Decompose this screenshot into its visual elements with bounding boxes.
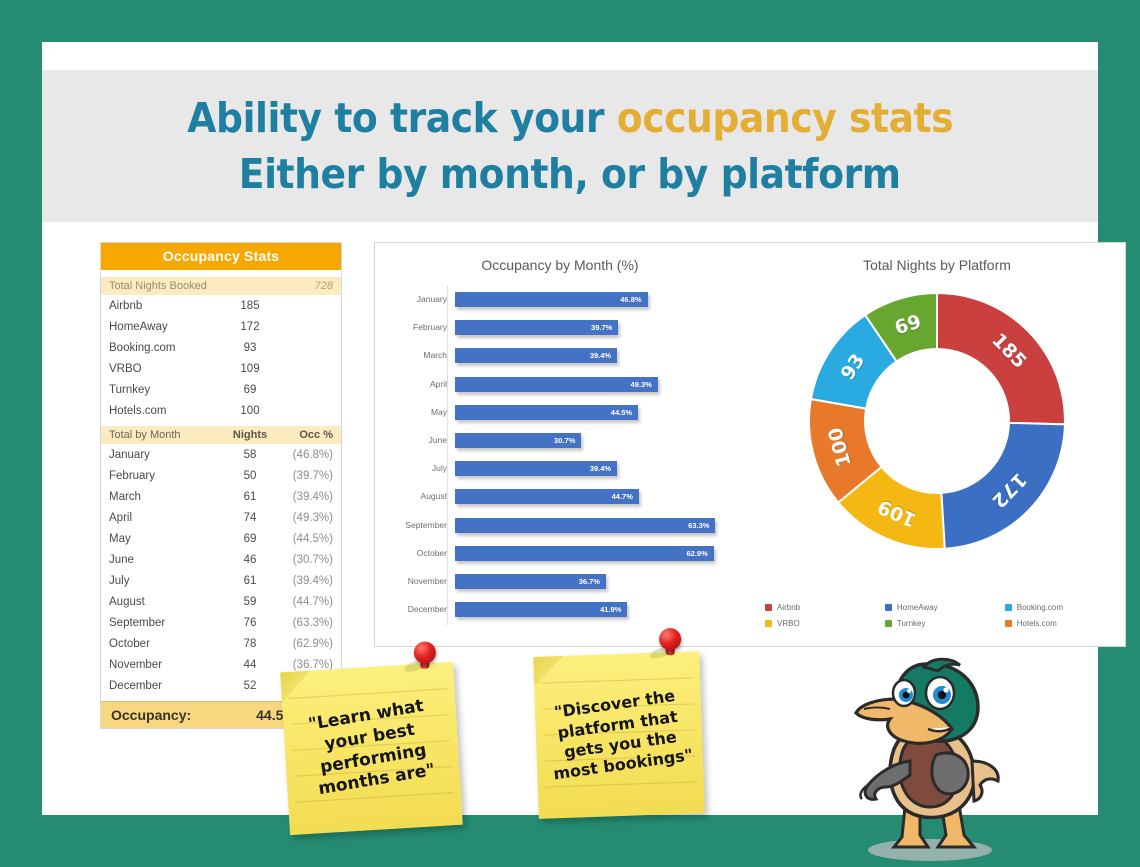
month-name: December <box>109 680 221 692</box>
bar-track: 30.7% <box>455 426 743 454</box>
bar-category-label: November <box>377 576 455 586</box>
bar-value-label: 39.4% <box>590 351 617 360</box>
legend-swatch <box>1005 604 1012 611</box>
bar: 49.3% <box>455 377 658 392</box>
stats-table-title: Occupancy Stats <box>101 243 341 272</box>
month-name: February <box>109 470 221 482</box>
bar-chart-row: September63.3% <box>377 511 743 539</box>
bar-track: 39.4% <box>455 341 743 369</box>
table-row: January58(46.8%) <box>101 444 341 465</box>
table-row: Hotels.com100 <box>101 400 341 421</box>
bar: 44.7% <box>455 489 639 504</box>
table-row: July61(39.4%) <box>101 570 341 591</box>
legend-label: Hotels.com <box>1017 619 1057 628</box>
platform-name: Airbnb <box>109 300 221 312</box>
legend-item[interactable]: Booking.com <box>997 603 1117 612</box>
month-table-header: Total by Month Nights Occ % <box>101 426 341 444</box>
legend-item[interactable]: Turnkey <box>877 619 997 628</box>
month-name: November <box>109 659 221 671</box>
bar-track: 49.3% <box>455 370 743 398</box>
month-occupancy: (49.3%) <box>279 512 333 524</box>
bar-track: 36.7% <box>455 567 743 595</box>
bar: 44.5% <box>455 405 638 420</box>
month-occupancy: (63.3%) <box>279 617 333 629</box>
donut-legend: AirbnbHomeAwayBooking.comVRBOTurnkeyHote… <box>757 603 1117 635</box>
bar: 39.4% <box>455 348 617 363</box>
bar-track: 63.3% <box>455 511 743 539</box>
month-nights: 52 <box>221 680 279 692</box>
legend-swatch <box>885 620 892 627</box>
bar: 46.8% <box>455 292 648 307</box>
bar-category-label: October <box>377 548 455 558</box>
legend-item[interactable]: Hotels.com <box>997 619 1117 628</box>
bar-category-label: February <box>377 322 455 332</box>
sticky-note-1-body: "Learn what your best performing months … <box>280 662 463 835</box>
charts-panel: Occupancy by Month (%) January46.8%Febru… <box>374 242 1126 647</box>
month-nights: 78 <box>221 638 279 650</box>
legend-item[interactable]: Airbnb <box>757 603 877 612</box>
bar-value-label: 46.8% <box>620 295 647 304</box>
table-row: HomeAway172 <box>101 316 341 337</box>
month-occupancy: (44.7%) <box>279 596 333 608</box>
month-header-nights: Nights <box>221 429 279 441</box>
table-row: October78(62.9%) <box>101 633 341 654</box>
legend-label: VRBO <box>777 619 800 628</box>
month-nights: 74 <box>221 512 279 524</box>
bar-category-label: December <box>377 604 455 614</box>
platform-name: HomeAway <box>109 321 221 333</box>
title-accent-text: occupancy stats <box>617 94 953 142</box>
table-row: Booking.com93 <box>101 337 341 358</box>
bar: 39.7% <box>455 320 618 335</box>
table-row: May69(44.5%) <box>101 528 341 549</box>
bar-chart-row: August44.7% <box>377 482 743 510</box>
month-nights: 46 <box>221 554 279 566</box>
pushpin-icon-2 <box>654 628 685 663</box>
platform-nights: 100 <box>221 405 279 417</box>
month-name: July <box>109 575 221 587</box>
bar-value-label: 41.9% <box>600 605 627 614</box>
month-occupancy: (30.7%) <box>279 554 333 566</box>
table-row: February50(39.7%) <box>101 465 341 486</box>
platform-name: Turnkey <box>109 384 221 396</box>
sticky-note-1-text: "Learn what your best performing months … <box>273 654 471 843</box>
month-header-label: Total by Month <box>109 429 221 441</box>
legend-swatch <box>765 604 772 611</box>
legend-label: Airbnb <box>777 603 800 612</box>
legend-label: Turnkey <box>897 619 926 628</box>
table-row: June46(30.7%) <box>101 549 341 570</box>
bar-chart-row: February39.7% <box>377 313 743 341</box>
month-nights: 61 <box>221 491 279 503</box>
platform-nights: 109 <box>221 363 279 375</box>
table-row: September76(63.3%) <box>101 612 341 633</box>
bar-value-label: 49.3% <box>631 380 658 389</box>
month-occupancy: (46.8%) <box>279 449 333 461</box>
bar-chart-row: April49.3% <box>377 370 743 398</box>
month-occupancy: (39.4%) <box>279 575 333 587</box>
platform-nights: 185 <box>221 300 279 312</box>
platform-name: Booking.com <box>109 342 221 354</box>
bar-category-label: May <box>377 407 455 417</box>
bar-category-label: April <box>377 379 455 389</box>
donut-chart-title: Total Nights by Platform <box>749 257 1125 273</box>
bar-track: 39.4% <box>455 454 743 482</box>
occupancy-stats-table: Occupancy Stats Total Nights Booked 728 … <box>100 242 342 729</box>
bar: 30.7% <box>455 433 581 448</box>
bar-track: 41.9% <box>455 595 743 623</box>
occupancy-by-month-chart: Occupancy by Month (%) January46.8%Febru… <box>377 251 743 645</box>
bar-category-label: August <box>377 491 455 501</box>
bar-track: 44.5% <box>455 398 743 426</box>
total-nights-label: Total Nights Booked <box>109 280 207 292</box>
month-occupancy: (39.7%) <box>279 470 333 482</box>
table-row: April74(49.3%) <box>101 507 341 528</box>
platform-nights: 172 <box>221 321 279 333</box>
bar-category-label: March <box>377 350 455 360</box>
header-banner: Ability to track your occupancy stats Ei… <box>42 70 1098 222</box>
month-name: January <box>109 449 221 461</box>
bar-track: 39.7% <box>455 313 743 341</box>
white-card: Ability to track your occupancy stats Ei… <box>42 42 1098 815</box>
slide-canvas: Ability to track your occupancy stats Ei… <box>0 0 1140 855</box>
bar-chart-row: October62.9% <box>377 539 743 567</box>
bar-chart-row: March39.4% <box>377 341 743 369</box>
bar-category-label: January <box>377 294 455 304</box>
platform-nights: 93 <box>221 342 279 354</box>
table-row: VRBO109 <box>101 358 341 379</box>
bar-chart-row: May44.5% <box>377 398 743 426</box>
sticky-note-2: "Discover the platform that gets you the… <box>533 651 705 819</box>
bar-chart-rows: January46.8%February39.7%March39.4%April… <box>377 285 743 623</box>
total-nights-by-platform-chart: Total Nights by Platform 185172109100936… <box>749 251 1125 645</box>
bar-chart-row: January46.8% <box>377 285 743 313</box>
bar-category-label: July <box>377 463 455 473</box>
month-nights: 59 <box>221 596 279 608</box>
month-name: May <box>109 533 221 545</box>
legend-item[interactable]: HomeAway <box>877 603 997 612</box>
legend-swatch <box>885 604 892 611</box>
month-name: June <box>109 554 221 566</box>
bar-track: 46.8% <box>455 285 743 313</box>
bar: 39.4% <box>455 461 617 476</box>
title-main-text: Ability to track your <box>187 94 616 142</box>
sticky-note-2-body: "Discover the platform that gets you the… <box>533 651 705 819</box>
sticky-note-1: "Learn what your best performing months … <box>280 662 463 835</box>
month-name: September <box>109 617 221 629</box>
platform-name: Hotels.com <box>109 405 221 417</box>
month-nights: 61 <box>221 575 279 587</box>
total-nights-booked-row: Total Nights Booked 728 <box>101 277 341 295</box>
bar-track: 44.7% <box>455 482 743 510</box>
bar-value-label: 30.7% <box>554 436 581 445</box>
total-nights-value: 728 <box>279 280 333 292</box>
legend-label: Booking.com <box>1017 603 1063 612</box>
table-row: Airbnb185 <box>101 295 341 316</box>
donut-svg <box>801 285 1073 557</box>
month-nights: 76 <box>221 617 279 629</box>
bar: 36.7% <box>455 574 606 589</box>
month-nights: 44 <box>221 659 279 671</box>
table-row: March61(39.4%) <box>101 486 341 507</box>
table-row: Turnkey69 <box>101 379 341 400</box>
month-name: April <box>109 512 221 524</box>
bar-category-label: September <box>377 520 455 530</box>
sticky-note-2-text: "Discover the platform that gets you the… <box>526 643 713 827</box>
platform-rows: Airbnb185HomeAway172Booking.com93VRBO109… <box>101 295 341 421</box>
bar-chart-row: December41.9% <box>377 595 743 623</box>
month-occupancy: (62.9%) <box>279 638 333 650</box>
bar-value-label: 39.7% <box>591 323 618 332</box>
legend-item[interactable]: VRBO <box>757 619 877 628</box>
month-occupancy: (39.4%) <box>279 491 333 503</box>
occupancy-footer-label: Occupancy: <box>111 707 221 723</box>
month-rows: January58(46.8%)February50(39.7%)March61… <box>101 444 341 696</box>
month-occupancy: (44.5%) <box>279 533 333 545</box>
bar: 62.9% <box>455 546 714 561</box>
bar-value-label: 44.7% <box>612 492 639 501</box>
bar: 63.3% <box>455 518 715 533</box>
legend-swatch <box>765 620 772 627</box>
platform-nights: 69 <box>221 384 279 396</box>
month-nights: 69 <box>221 533 279 545</box>
bar-value-label: 39.4% <box>590 464 617 473</box>
bar-value-label: 44.5% <box>611 408 638 417</box>
table-row: August59(44.7%) <box>101 591 341 612</box>
bar-chart-row: July39.4% <box>377 454 743 482</box>
legend-swatch <box>1005 620 1012 627</box>
donut-graphic: 1851721091009369 <box>801 285 1073 557</box>
legend-label: HomeAway <box>897 603 938 612</box>
page-title-line1: Ability to track your occupancy stats <box>187 90 953 146</box>
bar-chart-row: November36.7% <box>377 567 743 595</box>
pushpin-icon-1 <box>409 641 440 676</box>
month-header-occ: Occ % <box>279 429 333 441</box>
month-nights: 50 <box>221 470 279 482</box>
duck-mascot <box>832 657 1022 862</box>
month-name: March <box>109 491 221 503</box>
bar-chart-row: June30.7% <box>377 426 743 454</box>
bar-value-label: 62.9% <box>687 549 714 558</box>
bar: 41.9% <box>455 602 627 617</box>
month-name: October <box>109 638 221 650</box>
page-title-line2: Either by month, or by platform <box>239 146 901 202</box>
bar-value-label: 63.3% <box>688 521 715 530</box>
platform-name: VRBO <box>109 363 221 375</box>
bar-track: 62.9% <box>455 539 743 567</box>
bar-category-label: June <box>377 435 455 445</box>
month-name: August <box>109 596 221 608</box>
bar-chart-title: Occupancy by Month (%) <box>377 257 743 273</box>
month-nights: 58 <box>221 449 279 461</box>
bar-value-label: 36.7% <box>579 577 606 586</box>
duck-mascot-svg <box>832 657 1022 862</box>
